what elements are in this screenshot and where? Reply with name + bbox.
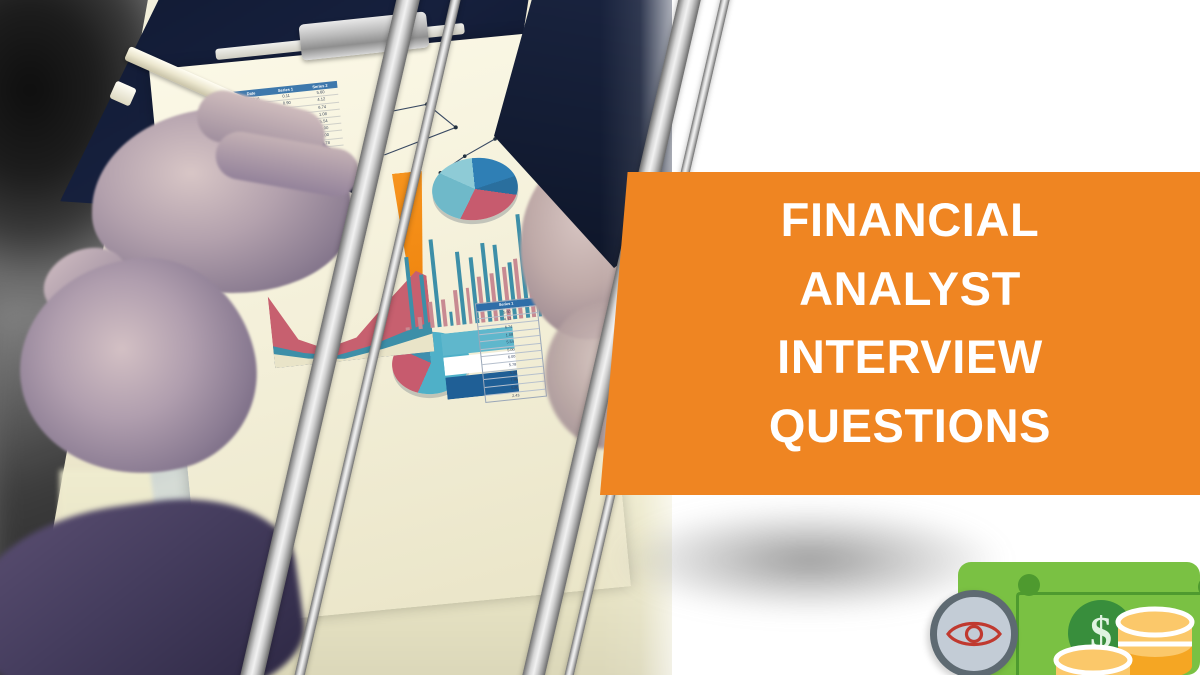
title-line-1: FINANCIAL (781, 186, 1040, 255)
bar (449, 311, 454, 325)
page-title: FINANCIAL ANALYST INTERVIEW QUESTIONS (640, 186, 1180, 486)
bar (441, 299, 448, 327)
money-illustration: $ (930, 552, 1200, 675)
bar (406, 327, 410, 331)
photo-collage: Date Series 1 Series 2 1/1/20160.115.602… (0, 0, 672, 675)
coin-stack-front (1050, 644, 1136, 675)
title-line-3: INTERVIEW (777, 323, 1043, 392)
bar (417, 317, 422, 329)
title-line-2: ANALYST (799, 255, 1021, 324)
bar (405, 256, 417, 330)
magnifier-lens (930, 590, 1018, 675)
poster-canvas: Date Series 1 Series 2 1/1/20160.115.602… (0, 0, 1200, 675)
title-line-4: QUESTIONS (769, 392, 1051, 461)
eye-icon (946, 617, 1002, 651)
legend-table-body: 5.604.126.741.085.545.006.005.784.327.96… (477, 305, 546, 402)
legend-table: Series 1 5.604.126.741.085.545.006.005.7… (475, 297, 547, 403)
bill-dot-left (1018, 574, 1040, 596)
bar (428, 302, 435, 328)
